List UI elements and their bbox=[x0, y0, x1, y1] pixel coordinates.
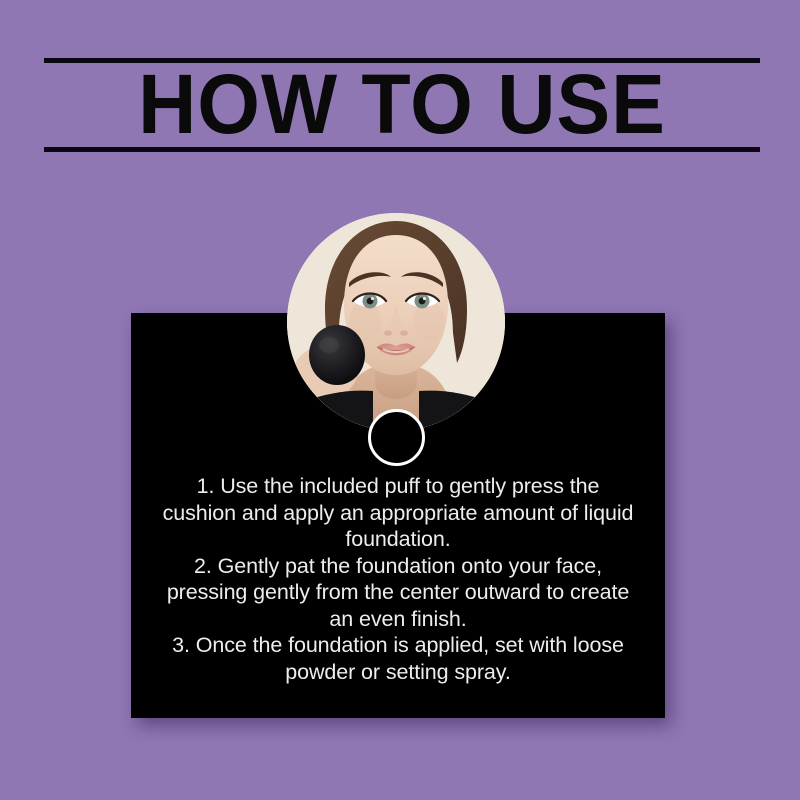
how-to-use-poster: HOW TO USE 1. Use the included puff to g… bbox=[0, 0, 800, 800]
page-title: HOW TO USE bbox=[58, 60, 745, 148]
instruction-step: 3. Once the foundation is applied, set w… bbox=[157, 632, 639, 685]
header-block: HOW TO USE bbox=[44, 58, 760, 152]
instruction-step: 1. Use the included puff to gently press… bbox=[157, 473, 639, 553]
title-rule-bottom bbox=[44, 147, 760, 152]
instruction-step: 2. Gently pat the foundation onto your f… bbox=[157, 553, 639, 633]
accent-circle bbox=[368, 409, 425, 466]
model-photo-illustration bbox=[287, 213, 505, 431]
instruction-steps-list: 1. Use the included puff to gently press… bbox=[157, 473, 639, 685]
model-photo-circle bbox=[287, 213, 505, 431]
